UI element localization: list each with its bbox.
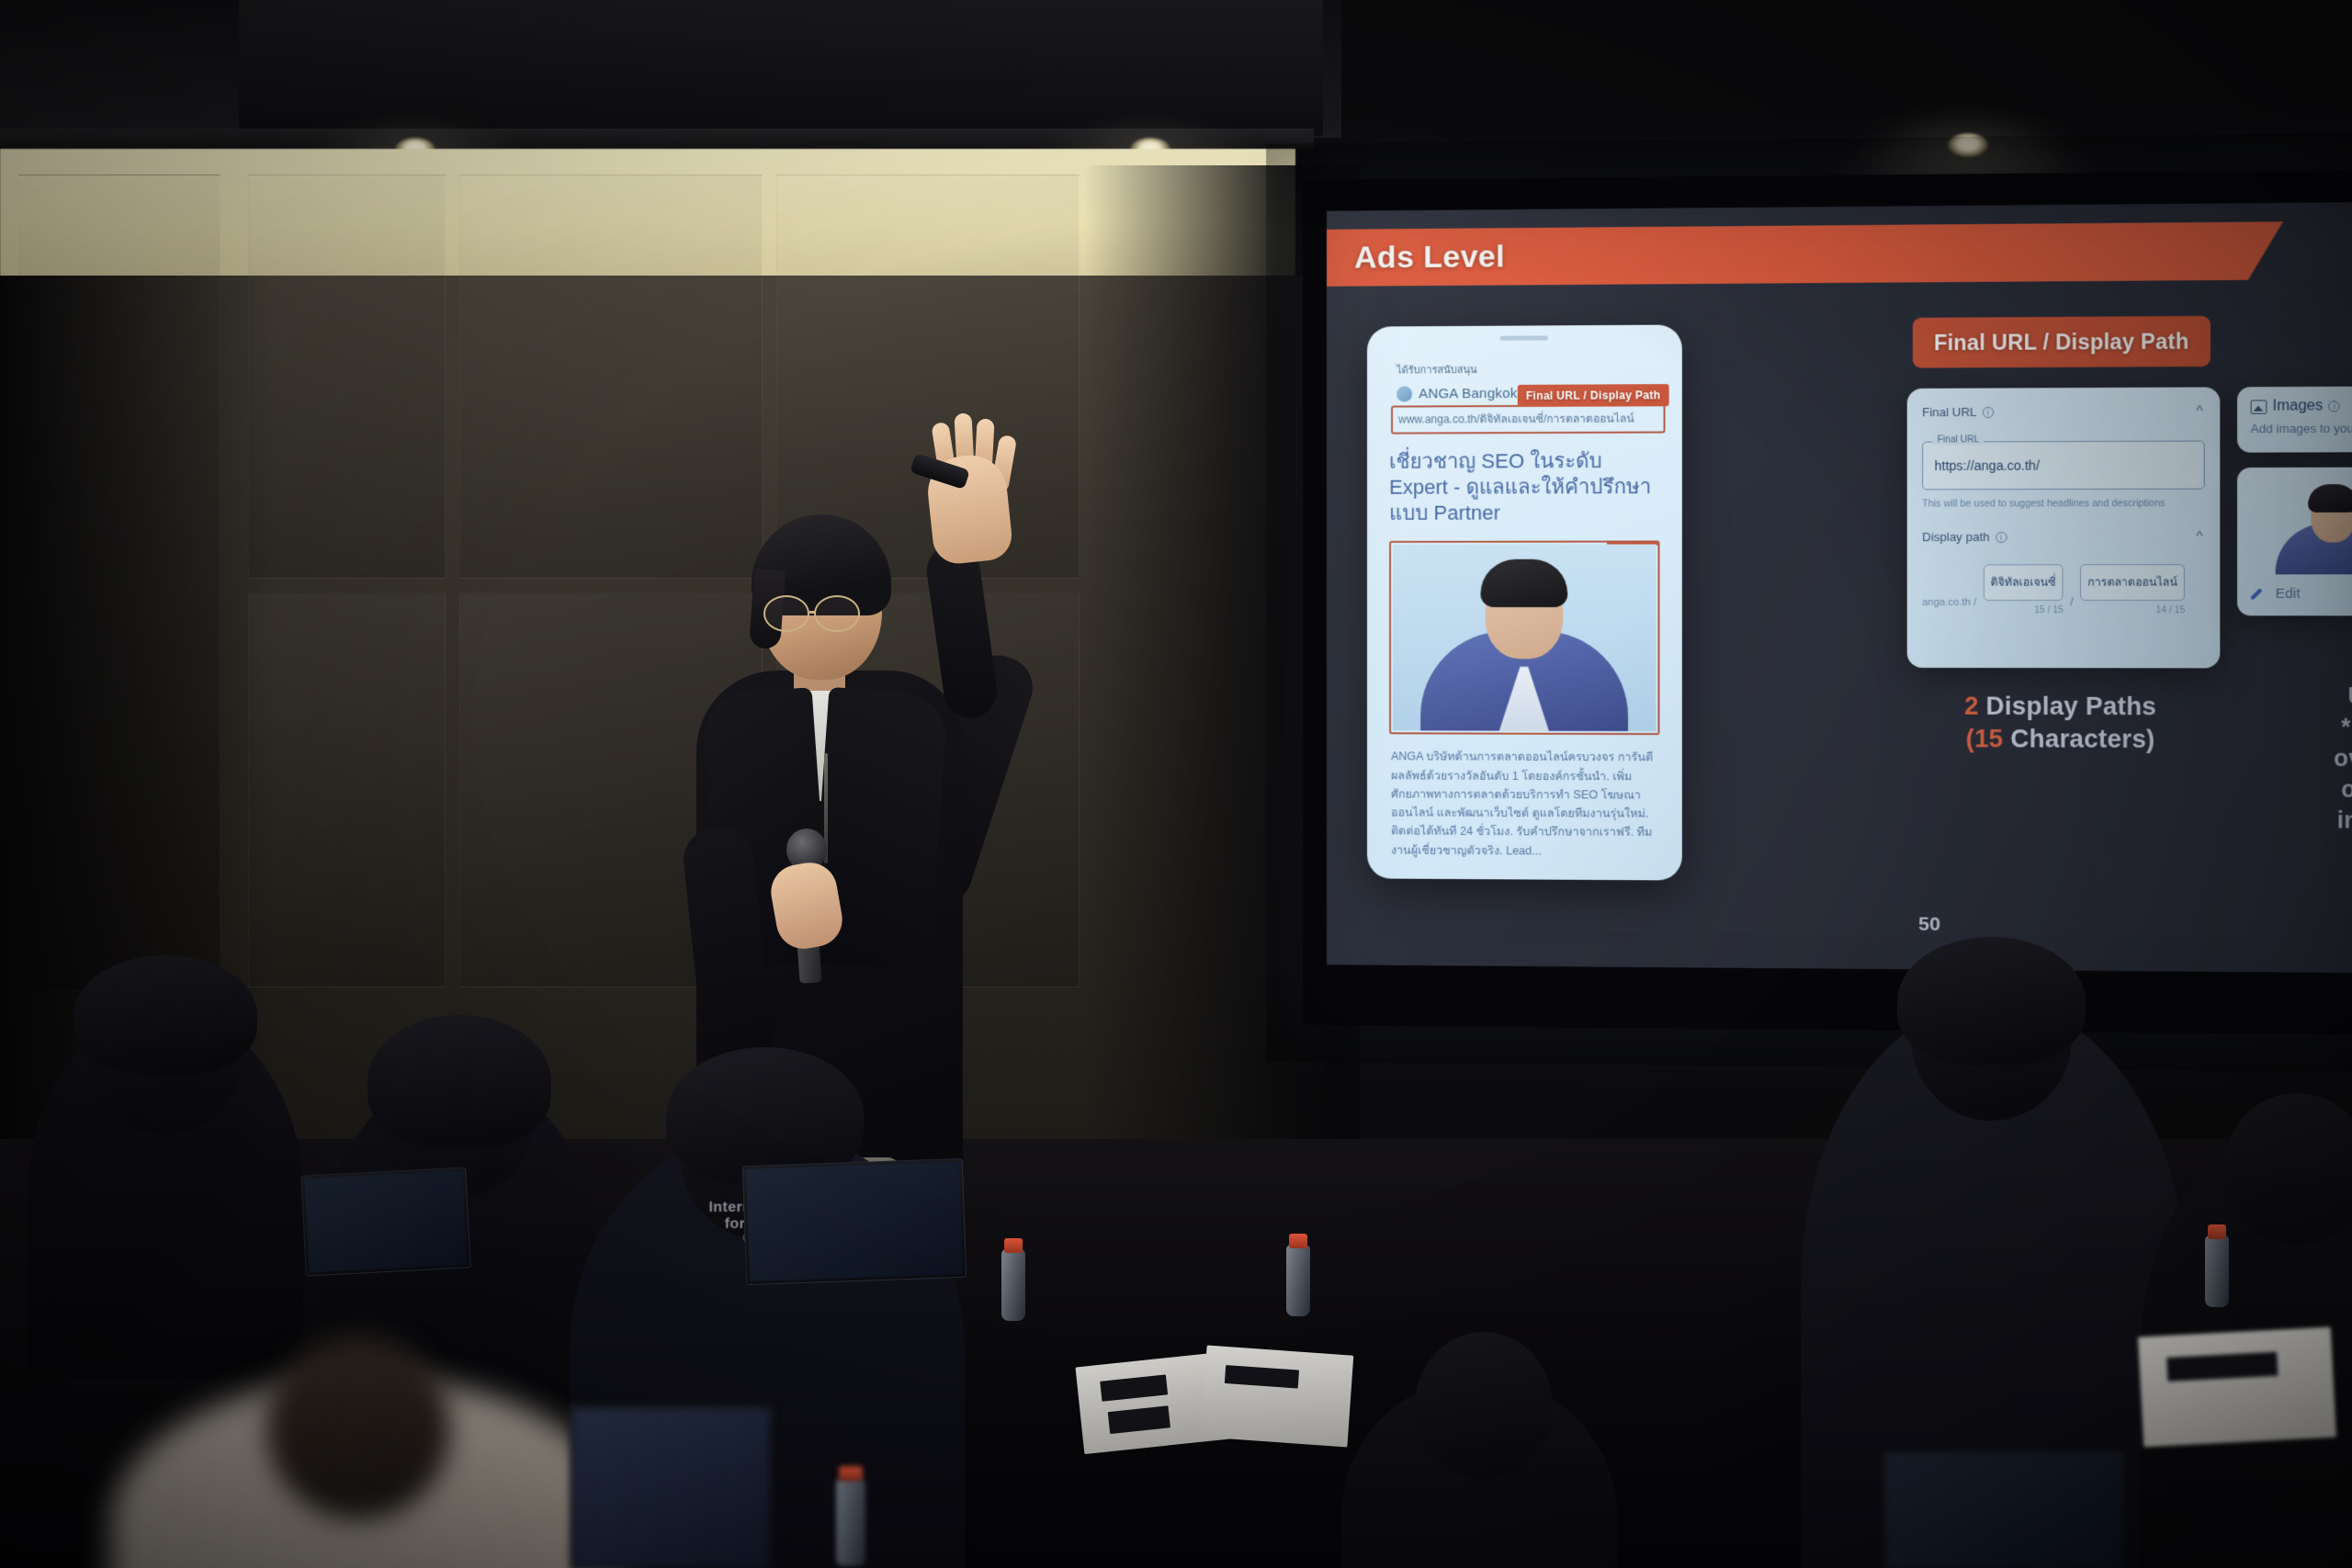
audience-hair — [73, 955, 257, 1075]
laptop[interactable] — [742, 1158, 967, 1285]
presenter-glasses-bridge — [809, 611, 816, 614]
thumbnail-image — [2246, 477, 2352, 575]
bottle-cap — [839, 1466, 863, 1481]
image-thumbnail-panel: Edit — [2237, 467, 2352, 615]
images-note-line: images — [2245, 805, 2352, 837]
ad-image — [1393, 545, 1656, 732]
final-url-helper-text: This will be used to suggest headlines a… — [1922, 498, 2205, 510]
projection-screen: Ads Level ได้รับการสนับสนุน ANGA Bangkok… — [1303, 170, 2352, 1035]
characters-note-text: Characters) — [2003, 725, 2154, 753]
final-url-section-header: Final URL i ^ — [1922, 404, 2205, 420]
audience-hair — [367, 1015, 551, 1148]
laptop[interactable] — [300, 1167, 471, 1276]
display-path-2-input[interactable]: การตลาดออนไลน์ — [2080, 564, 2185, 601]
sponsored-label: ได้รับการสนับสนุน — [1396, 360, 1666, 378]
info-icon: i — [1996, 531, 2007, 542]
wall-panel — [248, 175, 446, 579]
slide-title: Ads Level — [1327, 239, 1505, 276]
laptop-screen — [1887, 1455, 2119, 1567]
presenter-glasses-right — [814, 595, 860, 632]
final-url-input[interactable]: Final URL https://anga.co.th/ — [1922, 441, 2205, 491]
wall-panel — [248, 592, 446, 987]
favicon-icon — [1396, 386, 1412, 401]
audience-head — [1415, 1332, 1553, 1479]
workbook-text-block — [1225, 1365, 1299, 1389]
person-hair — [1480, 559, 1567, 607]
characters-count: 15 — [1974, 725, 2003, 753]
chevron-up-icon[interactable]: ^ — [2196, 403, 2202, 419]
audience-head — [266, 1337, 450, 1520]
ad-description: ANGA บริษัทด้านการตลาดออนไลน์ครบวงจร การ… — [1391, 748, 1657, 861]
laptop-screen — [573, 1409, 768, 1567]
ceiling-soffit — [239, 0, 1323, 136]
brand-name: ANGA Bangkok — [1419, 386, 1517, 402]
ceiling-edge — [0, 129, 1314, 149]
bottle-cap — [2208, 1224, 2226, 1239]
url-highlight-box: Final URL / Display Path www.anga.co.th/… — [1391, 404, 1666, 434]
workbook-text-block — [1108, 1405, 1170, 1434]
display-paths-note-text: Display Paths — [1979, 692, 2156, 720]
water-bottle — [1286, 1245, 1310, 1316]
chevron-up-icon[interactable]: ^ — [2196, 528, 2202, 544]
audience-hair — [1897, 937, 2086, 1066]
display-path-2-value: การตลาดออนไลน์ — [2087, 575, 2177, 588]
final-url-section-label: Final URL — [1922, 405, 1976, 419]
open-workbook — [1201, 1346, 1354, 1448]
ad-preview-card: ได้รับการสนับสนุน ANGA Bangkok Final URL… — [1367, 325, 1682, 881]
paren-open: ( — [1966, 725, 1974, 752]
workbook-text-block — [2166, 1352, 2278, 1382]
section-divider — [1922, 509, 2205, 530]
images-note: Up to * Logo overlay, or poo images — [2245, 682, 2352, 838]
workbook-text-block — [1100, 1374, 1168, 1401]
callout-final-url: Final URL / Display Path — [1518, 384, 1669, 407]
images-panel: Images i Add images to your ca — [2237, 386, 2352, 453]
display-path-section-header: Display path i ^ — [1922, 529, 2205, 544]
display-path-1-value: ดิจิทัลเอเจนซี่ — [1991, 576, 2056, 589]
display-paths-note-line1: 2 Display Paths — [1918, 690, 2203, 723]
display-path-prefix: anga.co.th / — [1922, 597, 1976, 615]
pencil-icon — [2253, 587, 2267, 601]
ceiling-downlight — [1948, 133, 1988, 157]
display-paths-note-line2: (15 Characters) — [1918, 723, 2203, 757]
slide-title-banner: Ads Level — [1327, 221, 2283, 287]
images-subtitle: Add images to your ca — [2251, 421, 2352, 435]
info-icon: i — [1983, 406, 1994, 417]
presentation-slide: Ads Level ได้รับการสนับสนุน ANGA Bangkok… — [1327, 202, 2352, 973]
ad-headline: เชี่ยวชาญ SEO ในระดับ Expert - ดูแลและให… — [1389, 448, 1663, 527]
person-hair — [2308, 484, 2352, 513]
display-url: www.anga.co.th/ดิจิทัลเอเจนซี่/การตลาดออ… — [1398, 410, 1657, 428]
right-section-tag: Final URL / Display Path — [1913, 316, 2211, 368]
display-path-separator: / — [2070, 594, 2074, 615]
presenter-glasses-left — [763, 595, 809, 632]
bottle-cap — [1004, 1238, 1023, 1253]
info-icon: i — [2329, 400, 2341, 412]
water-bottle — [2205, 1235, 2229, 1307]
final-url-field-label: Final URL — [1932, 434, 1984, 445]
display-path-row: anga.co.th / ดิจิทัลเอเจนซี่ 15 / 15 / ก… — [1922, 564, 2205, 615]
display-path-1-input[interactable]: ดิจิทัลเอเจนซี่ — [1983, 564, 2063, 601]
laptop[interactable] — [1883, 1451, 2122, 1568]
display-paths-note: 2 Display Paths (15 Characters) — [1918, 690, 2203, 756]
display-path-1-counter: 15 / 15 — [1983, 605, 2063, 615]
laptop[interactable] — [570, 1405, 772, 1568]
final-url-panel: Final URL i ^ Final URL https://anga.co.… — [1907, 387, 2221, 668]
ad-image-highlight-box: Images — [1389, 541, 1659, 736]
final-url-value: https://anga.co.th/ — [1934, 457, 2040, 473]
water-bottle — [1001, 1249, 1025, 1321]
images-note-line: overlay, — [2245, 743, 2352, 775]
bottle-cap — [1289, 1234, 1307, 1248]
images-note-line: * Logo — [2245, 712, 2352, 744]
edit-label: Edit — [2276, 586, 2301, 602]
images-panel-header: Images i — [2251, 398, 2352, 415]
edit-image-button[interactable]: Edit — [2253, 586, 2352, 602]
open-workbook — [2138, 1327, 2336, 1448]
water-bottle — [836, 1479, 865, 1566]
laptop-screen — [746, 1162, 963, 1281]
phone-notch — [1500, 335, 1548, 340]
display-path-2-counter: 14 / 15 — [2080, 605, 2185, 615]
image-icon — [2251, 400, 2267, 413]
images-note-line: Up to — [2245, 682, 2352, 713]
display-path-section-label: Display path — [1922, 530, 1990, 544]
images-title: Images — [2273, 398, 2324, 415]
laptop-screen — [304, 1171, 467, 1273]
slide-page-number: 50 — [1918, 914, 1940, 936]
images-note-line: or poo — [2245, 774, 2352, 807]
display-paths-count: 2 — [1964, 692, 1979, 719]
